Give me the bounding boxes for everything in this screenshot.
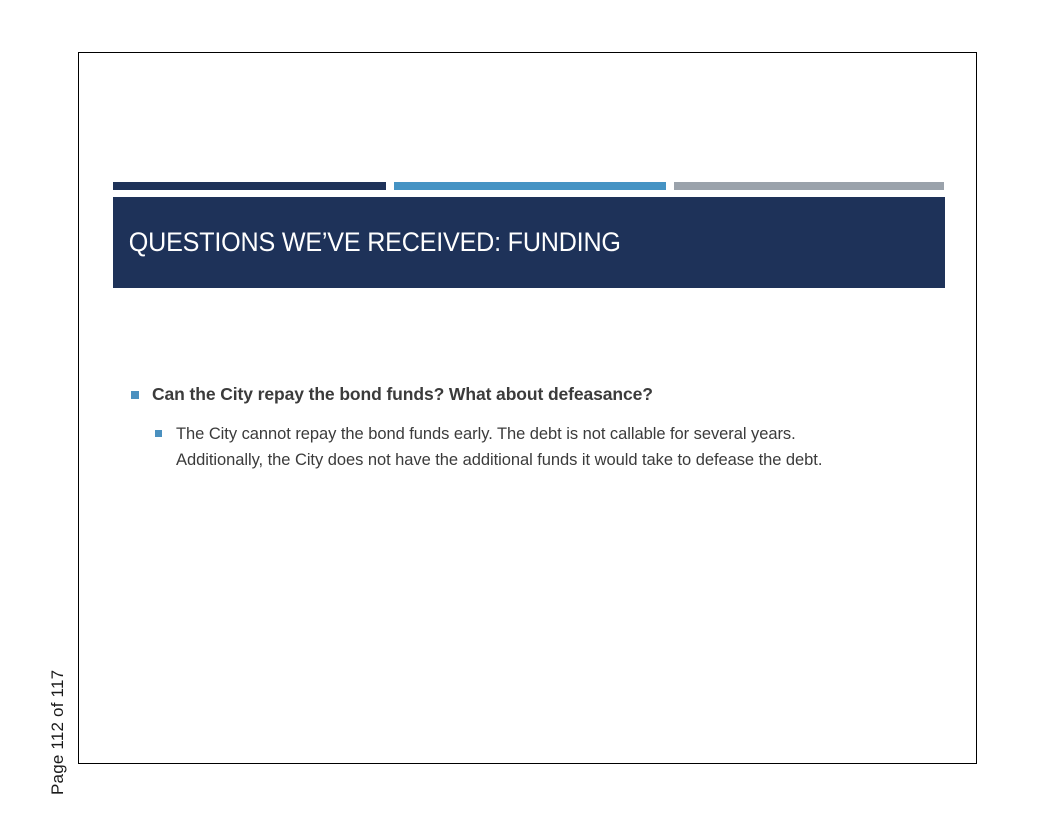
bullet-square-icon [155,430,162,437]
bullet-level1-item: Can the City repay the bond funds? What … [125,383,945,407]
accent-bar-gray [674,182,944,190]
accent-bar-navy [113,182,386,190]
slide-body: Can the City repay the bond funds? What … [125,383,945,473]
bullet-level2-text-line2: Additionally, the City does not have the… [176,447,945,473]
slide-title: QUESTIONS WE’VE RECEIVED: FUNDING [113,227,621,258]
accent-bar-group [113,182,944,190]
bullet-level1-text: Can the City repay the bond funds? What … [152,384,653,404]
page-number-label: Page 112 of 117 [46,595,70,795]
bullet-level2-text-line1: The City cannot repay the bond funds ear… [176,421,945,447]
slide-title-banner: QUESTIONS WE’VE RECEIVED: FUNDING [113,197,945,288]
bullet-square-icon [131,391,139,399]
slide-canvas: QUESTIONS WE’VE RECEIVED: FUNDING Can th… [78,52,977,764]
accent-bar-blue [394,182,666,190]
bullet-level2-item: The City cannot repay the bond funds ear… [125,421,945,473]
